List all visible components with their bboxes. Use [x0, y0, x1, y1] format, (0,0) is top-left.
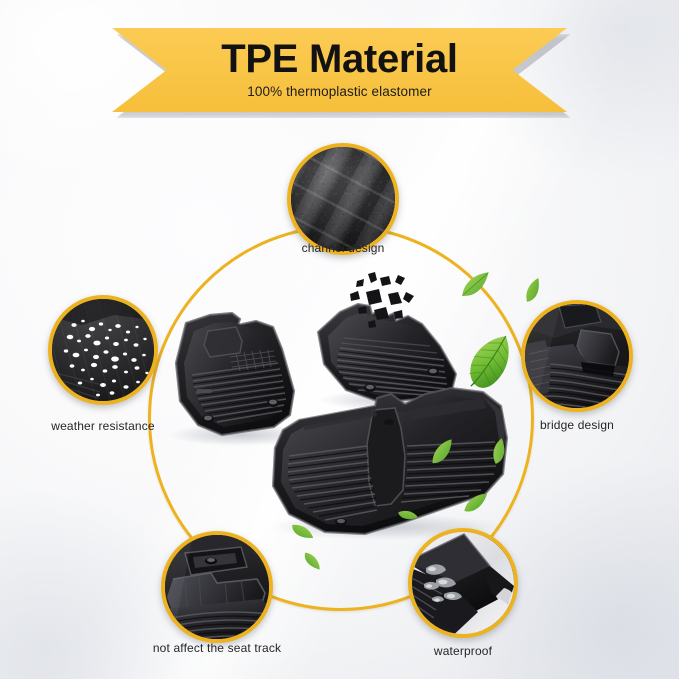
mat-edge-water-photo — [412, 532, 514, 634]
banner-ribbon: TPE Material 100% thermoplastic elastome… — [112, 28, 567, 112]
header-banner: TPE Material 100% thermoplastic elastome… — [112, 28, 567, 112]
callout-bubble-waterproof[interactable] — [408, 528, 518, 638]
debris-fragments — [344, 272, 416, 336]
mat-with-snow-photo — [52, 299, 154, 401]
page-title: TPE Material — [221, 39, 457, 80]
leaf-icon — [519, 277, 550, 307]
mat-channel-texture-photo — [291, 147, 395, 251]
callout-bubble-bridge-design[interactable] — [521, 300, 633, 412]
callout-label-seat-track: not affect the seat track — [128, 641, 306, 655]
callout-label-weather-resistance: weather resistance — [26, 419, 180, 433]
callout-bubble-seat-track[interactable] — [161, 531, 273, 643]
callout-bubble-weather-resistance[interactable] — [48, 295, 158, 405]
mat-in-footwell-photo — [525, 304, 629, 408]
callout-bubble-channel-design[interactable] — [287, 143, 399, 255]
page-subtitle: 100% thermoplastic elastomer — [247, 84, 431, 99]
rear-bench-mat — [255, 382, 520, 542]
callout-label-waterproof: waterproof — [408, 644, 518, 658]
mat-seat-track-photo — [165, 535, 269, 639]
callout-label-bridge-design: bridge design — [521, 418, 633, 432]
infographic-canvas: TPE Material 100% thermoplastic elastome… — [0, 0, 679, 679]
callout-label-channel-design: channel design — [287, 241, 399, 255]
